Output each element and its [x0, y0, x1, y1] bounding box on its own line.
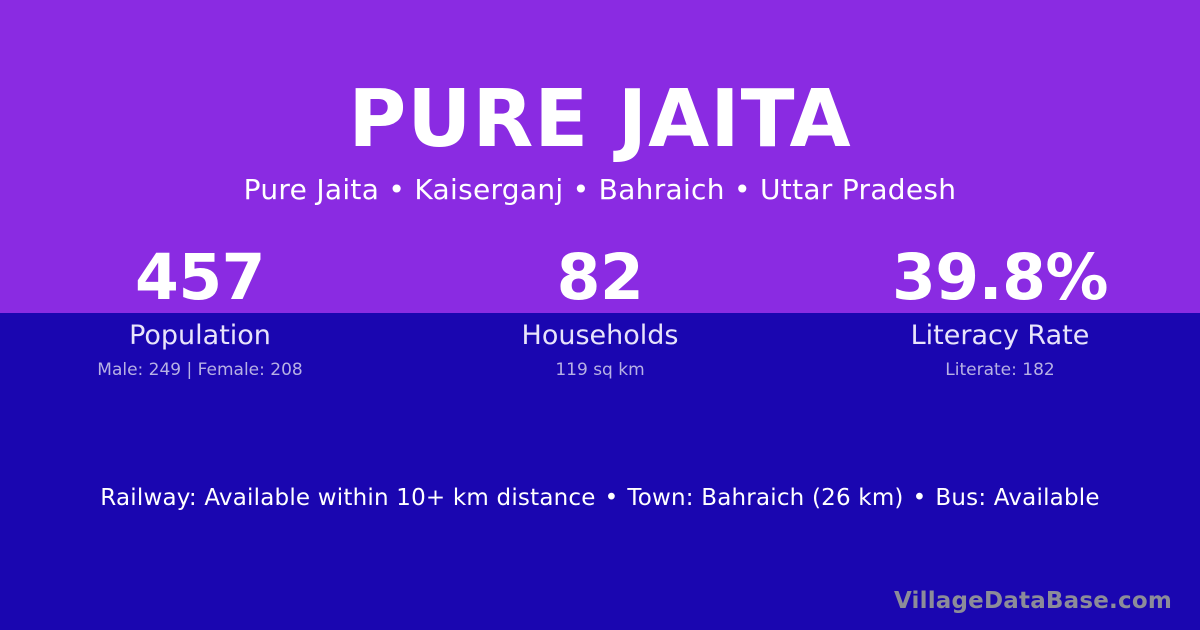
- breadcrumb: Pure Jaita • Kaiserganj • Bahraich • Utt…: [0, 173, 1200, 207]
- site-brand-watermark: VillageDataBase.com: [894, 588, 1172, 616]
- stat-label-households: Households: [400, 320, 800, 351]
- stat-households: 82 Households 119 sq km: [400, 246, 800, 381]
- village-info-card: PURE JAITA Pure Jaita • Kaiserganj • Bah…: [0, 0, 1200, 630]
- card-header: PURE JAITA Pure Jaita • Kaiserganj • Bah…: [0, 0, 1200, 207]
- stats-row: 457 Population Male: 249 | Female: 208 8…: [0, 246, 1200, 381]
- stat-value-literacy-rate: 39.8%: [800, 246, 1200, 312]
- stat-literacy-rate: 39.8% Literacy Rate Literate: 182: [800, 246, 1200, 381]
- stat-label-literacy-rate: Literacy Rate: [800, 320, 1200, 351]
- amenities-line: Railway: Available within 10+ km distanc…: [0, 484, 1200, 514]
- stat-value-households: 82: [400, 246, 800, 312]
- stat-sub-literacy-rate: Literate: 182: [800, 361, 1200, 381]
- amenity-town: Town: Bahraich (26 km): [627, 485, 903, 511]
- amenity-separator-dot: •: [596, 484, 628, 514]
- amenity-railway: Railway: Available within 10+ km distanc…: [100, 485, 595, 511]
- amenity-bus: Bus: Available: [935, 485, 1099, 511]
- page-title: PURE JAITA: [0, 78, 1200, 160]
- stat-sub-population: Male: 249 | Female: 208: [0, 361, 400, 381]
- amenity-separator-dot: •: [904, 484, 936, 514]
- stat-sub-households: 119 sq km: [400, 361, 800, 381]
- stat-value-population: 457: [0, 246, 400, 312]
- stat-label-population: Population: [0, 320, 400, 351]
- stat-population: 457 Population Male: 249 | Female: 208: [0, 246, 400, 381]
